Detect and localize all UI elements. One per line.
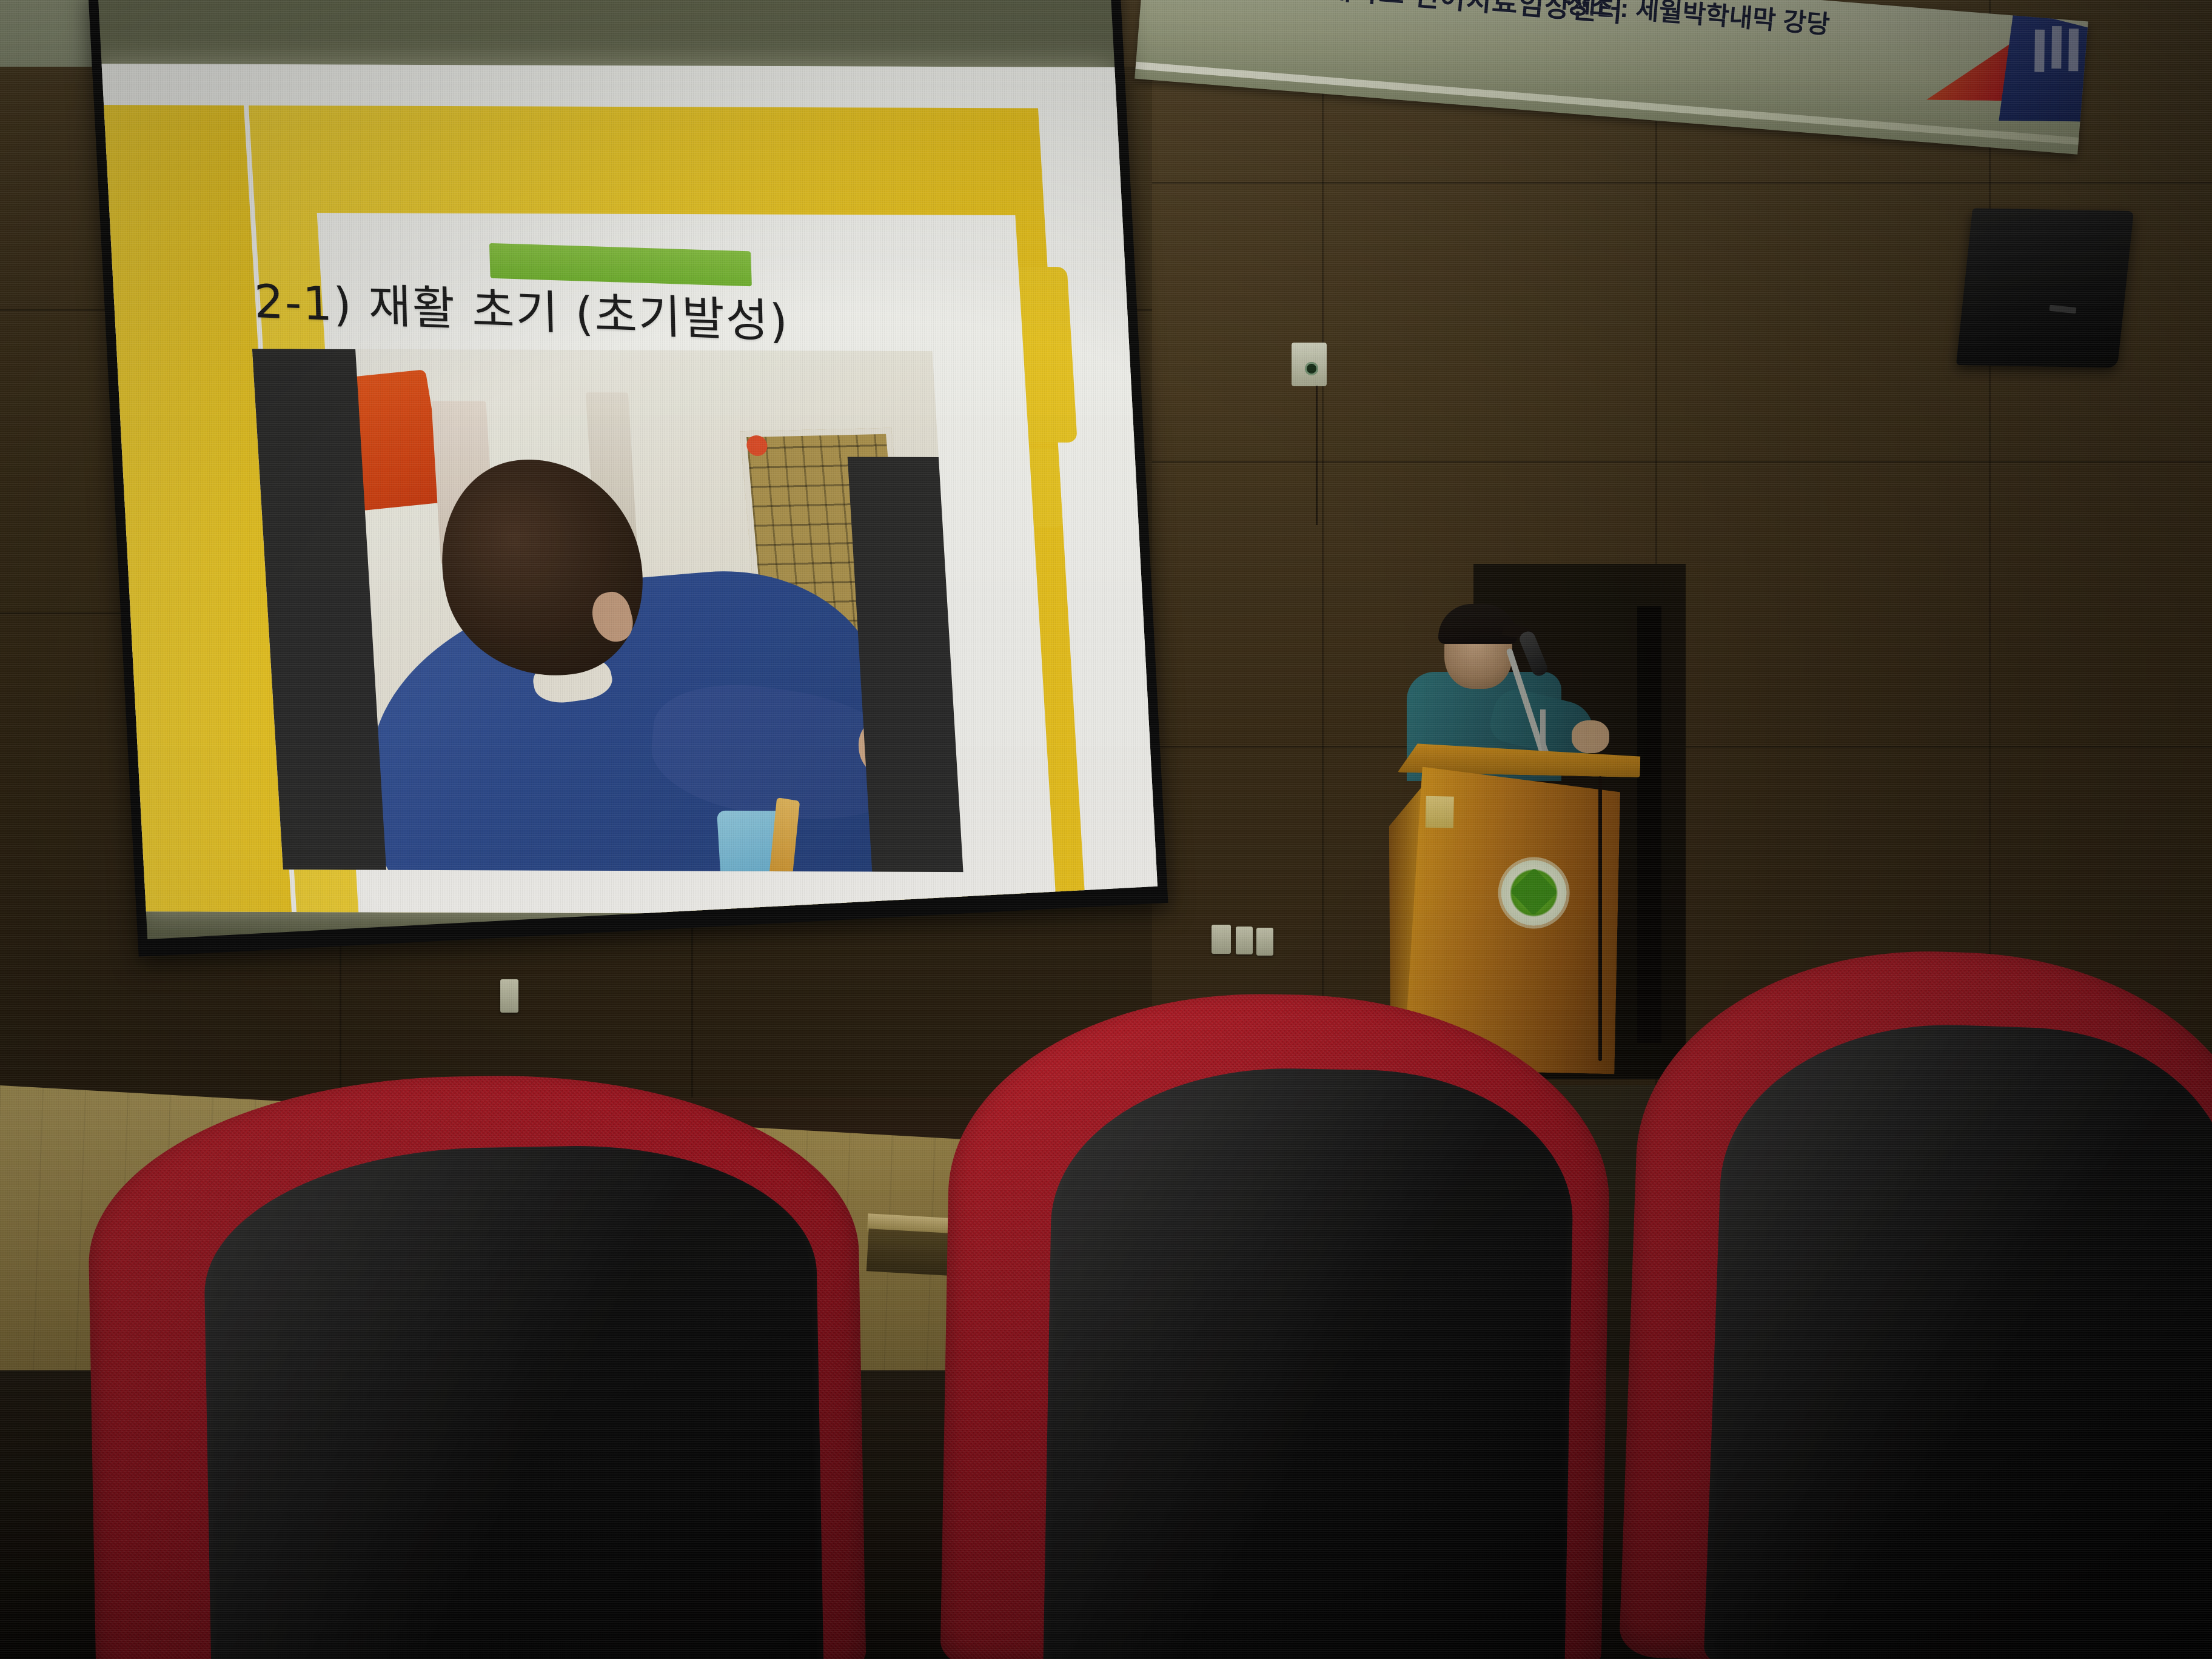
camera-cable xyxy=(1316,386,1318,525)
auditorium-scene-photo: 최 : 대구대학교 언어치료임상센터 장소 : 세월박학내막 강당 xyxy=(0,0,2212,1659)
screen-surface: 2-1) 재활 초기 (초기발성) xyxy=(98,0,1158,939)
wall-outlet-plate xyxy=(1236,927,1253,954)
banner-bar-icon xyxy=(2068,28,2079,71)
loudspeaker-icon xyxy=(1956,208,2134,367)
banner-place-text: 장소 : 세월박학내막 강당 xyxy=(1565,0,1831,41)
seat-back-highlight xyxy=(1043,1065,1575,1659)
seat-back-highlight xyxy=(202,1142,824,1659)
auditorium-seat[interactable] xyxy=(85,1070,866,1659)
seat-back-highlight xyxy=(1703,1017,2212,1659)
banner-bar-icon xyxy=(2051,26,2062,69)
banner-bar-icon xyxy=(2034,30,2045,72)
wall-outlet-plate xyxy=(500,979,518,1013)
slide-photo xyxy=(252,349,964,872)
podium-sticker xyxy=(1426,796,1454,828)
presentation-slide: 2-1) 재활 초기 (초기발성) xyxy=(98,64,1158,915)
screen-frame: 2-1) 재활 초기 (초기발성) xyxy=(88,0,1168,957)
projection-screen: 2-1) 재활 초기 (초기발성) xyxy=(88,0,1193,981)
banner-host-text: 최 : 대구대학교 언어치료임상센터 xyxy=(1220,0,1624,30)
wall-outlet-plate xyxy=(1212,925,1231,954)
university-emblem-icon xyxy=(1500,859,1567,926)
auditorium-seat[interactable] xyxy=(1619,941,2212,1659)
banner-decoration xyxy=(1926,0,2088,138)
projected-image-area: 2-1) 재활 초기 (초기발성) xyxy=(98,64,1158,915)
auditorium-seat[interactable] xyxy=(940,989,1612,1659)
wall-outlet-plate xyxy=(1256,928,1273,956)
camera-lens-icon xyxy=(1305,362,1318,375)
